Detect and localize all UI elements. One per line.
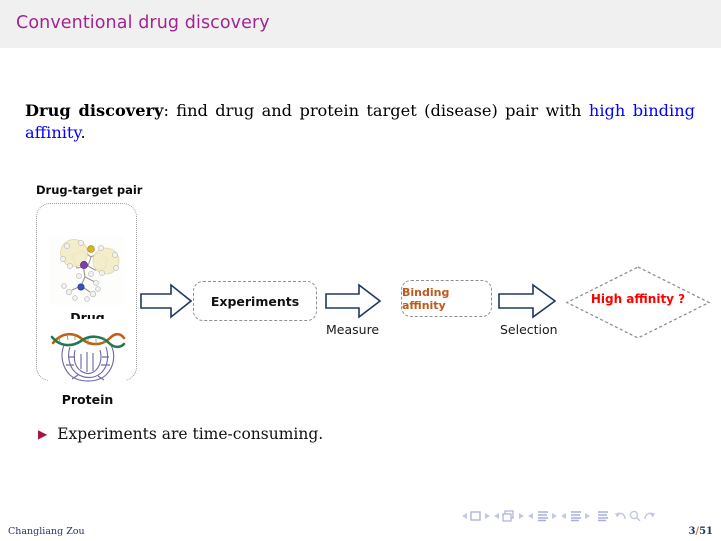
binding-affinity-box[interactable]: Binding affinity (401, 280, 492, 317)
nav-slide-icon[interactable] (460, 509, 492, 523)
protein-dna-ribbon-icon (48, 319, 126, 385)
nav-search-icon[interactable] (628, 509, 642, 523)
experiments-box[interactable]: Experiments (193, 281, 317, 321)
bullet-triangle-icon: ▶ (38, 428, 47, 440)
decision-label: High affinity ? (565, 292, 711, 306)
nav-forward-icon[interactable] (642, 509, 656, 523)
block-arrow-right-icon (498, 282, 556, 320)
experiments-label: Experiments (211, 294, 299, 309)
page-number: 3/51 (688, 526, 713, 537)
block-arrow-right-icon (325, 282, 381, 320)
protein-label: Protein (37, 392, 138, 407)
binding-affinity-label: Binding affinity (402, 286, 491, 312)
beamer-navigation-bar[interactable] (460, 508, 656, 524)
page-title: Conventional drug discovery (16, 13, 270, 33)
nav-back-icon[interactable] (614, 509, 628, 523)
drug-target-pair-box: Drug Pr (36, 203, 137, 381)
lead-paragraph: Drug discovery: find drug and protein ta… (25, 100, 695, 144)
lead-mid: : find drug and protein target (disease)… (163, 101, 588, 120)
measure-label: Measure (326, 322, 379, 337)
molecule-ball-and-stick-icon (50, 237, 124, 305)
page-total: 51 (699, 526, 713, 537)
nav-section-icon[interactable] (559, 509, 592, 523)
nav-frame-icon[interactable] (492, 509, 526, 523)
drug-target-pair-caption: Drug-target pair (36, 183, 142, 197)
block-arrow-right-icon (140, 282, 192, 320)
nav-subsection-icon[interactable] (526, 509, 559, 523)
nav-presentation-icon[interactable] (592, 509, 614, 523)
drug-discovery-flow-diagram: Drug-target pair (0, 170, 721, 395)
list-item: ▶ Experiments are time-consuming. (38, 425, 323, 443)
selection-label: Selection (500, 322, 558, 337)
footer-author: Changliang Zou (8, 526, 85, 537)
lead-end: . (80, 123, 85, 142)
bullet-text: Experiments are time-consuming. (57, 425, 323, 443)
lead-strong: Drug discovery (25, 101, 163, 120)
